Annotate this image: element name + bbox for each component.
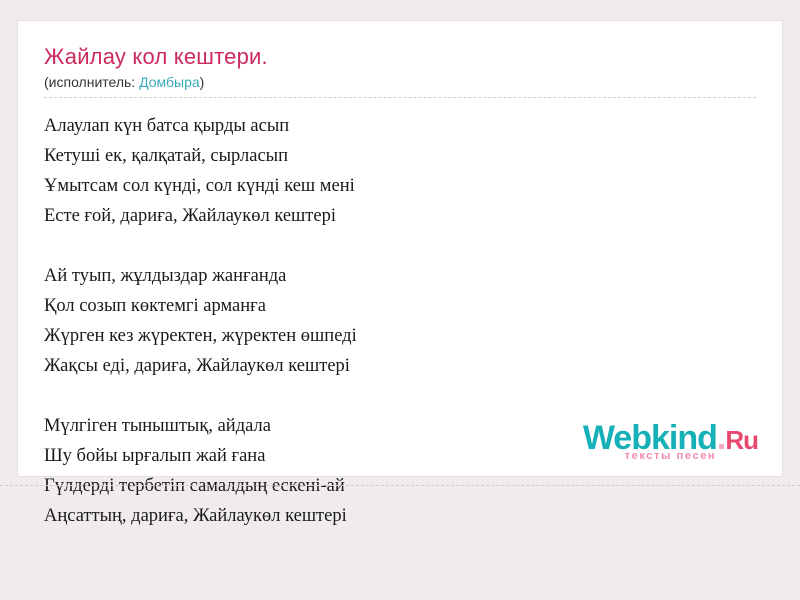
artist-suffix-label: ) — [200, 74, 205, 90]
footer-divider — [0, 485, 800, 486]
artist-line: (исполнитель: Домбыра) — [44, 74, 756, 98]
lyrics-text: Алаулап күн батса қырды асып Кетуші ек, … — [44, 98, 756, 531]
artist-link[interactable]: Домбыра — [139, 74, 200, 90]
lyrics-card: Жайлау кол кештери. (исполнитель: Домбыр… — [17, 20, 783, 477]
page-title: Жайлау кол кештери. — [44, 44, 756, 70]
logo-tld-text: Ru — [725, 425, 758, 455]
page-root: Жайлау кол кештери. (исполнитель: Домбыр… — [0, 0, 800, 600]
site-logo[interactable]: Webkind.Ru тексты песен — [583, 421, 758, 462]
artist-prefix-label: (исполнитель: — [44, 74, 139, 90]
